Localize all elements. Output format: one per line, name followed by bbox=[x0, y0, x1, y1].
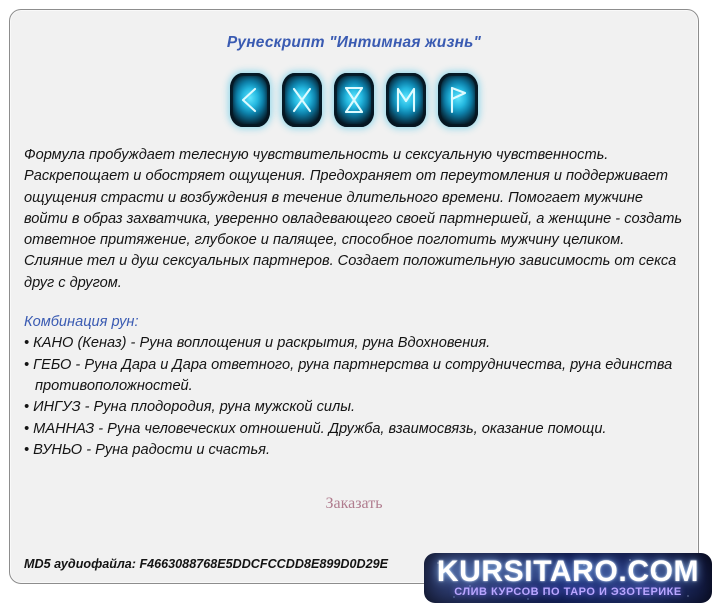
list-item: МАННАЗ - Руна человеческих отношений. Др… bbox=[24, 419, 684, 440]
logo-main-text: KURSITARO.COM bbox=[424, 555, 712, 589]
rune-tile-kenaz bbox=[230, 73, 270, 127]
order-button[interactable]: Заказать bbox=[325, 495, 382, 512]
list-item: КАНО (Кеназ) - Руна воплощения и раскрыт… bbox=[24, 333, 684, 354]
list-item: ВУНЬО - Руна радости и счастья. bbox=[24, 440, 684, 461]
description-block: Формула пробуждает телесную чувствительн… bbox=[24, 145, 684, 294]
list-item: ИНГУЗ - Руна плодородия, руна мужской си… bbox=[24, 397, 684, 418]
inguz-icon bbox=[334, 73, 374, 127]
kursitaro-logo-badge: KURSITARO.COM СЛИВ КУРСОВ ПО ТАРО И ЭЗОТ… bbox=[424, 553, 712, 603]
wunjo-icon bbox=[438, 73, 478, 127]
list-item: ГЕБО - Руна Дара и Дара ответного, руна … bbox=[24, 355, 684, 398]
md5-line: MD5 аудиофайла: F4663088768E5DDCFCCDD8E8… bbox=[24, 557, 388, 571]
gebo-icon bbox=[282, 73, 322, 127]
logo-sub-text: СЛИВ КУРСОВ ПО ТАРО И ЭЗОТЕРИКЕ bbox=[424, 586, 712, 598]
rune-tile-wunjo bbox=[438, 73, 478, 127]
mannaz-icon bbox=[386, 73, 426, 127]
rune-tile-mannaz bbox=[386, 73, 426, 127]
rune-tile-gebo bbox=[282, 73, 322, 127]
rune-strip bbox=[10, 69, 698, 131]
description-text: Формула пробуждает телесную чувствительн… bbox=[24, 145, 684, 294]
rune-tile-inguz bbox=[334, 73, 374, 127]
runescript-card: Рунескрипт "Интимная жизнь" bbox=[9, 9, 699, 584]
combination-list: КАНО (Кеназ) - Руна воплощения и раскрыт… bbox=[24, 333, 684, 461]
order-link-wrap: Заказать bbox=[10, 495, 698, 513]
combination-heading: Комбинация рун: bbox=[24, 312, 684, 333]
kenaz-icon bbox=[230, 73, 270, 127]
page-title: Рунескрипт "Интимная жизнь" bbox=[10, 10, 698, 52]
